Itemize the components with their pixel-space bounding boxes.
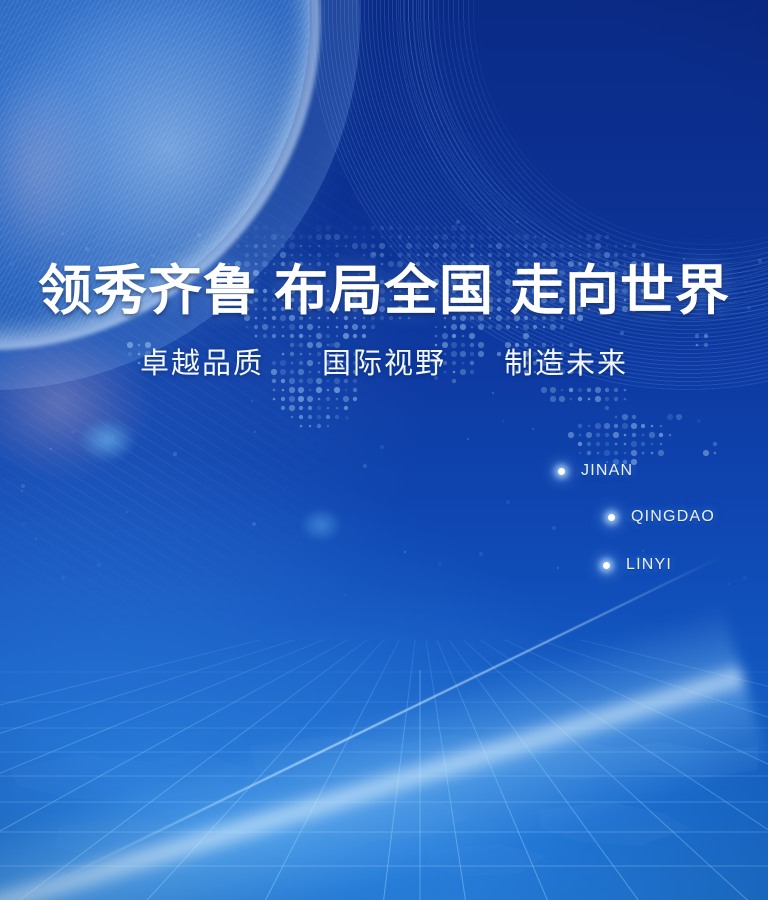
city-dot-marker-icon [558,468,565,475]
headline-part-1: 领秀齐鲁 [38,261,258,321]
city-dot-marker-icon [608,514,615,521]
subline-part-3: 制造未来 [504,348,628,380]
city-label-jinan: JINAN [581,462,633,480]
page-title: 领秀齐鲁布局全国走向世界 [0,258,768,324]
city-marker-qingdao: QINGDAO [608,508,715,526]
city-marker-jinan: JINAN [558,462,633,480]
page-subtitle: 卓越品质国际视野制造未来 [0,346,768,382]
subline-part-2: 国际视野 [322,348,446,380]
city-dot-marker-icon [603,562,610,569]
city-label-linyi: LINYI [626,556,672,574]
headline-block: 领秀齐鲁布局全国走向世界 卓越品质国际视野制造未来 [0,258,768,382]
hero-banner: 领秀齐鲁布局全国走向世界 卓越品质国际视野制造未来 JINAN QINGDAO … [0,0,768,900]
subline-part-1: 卓越品质 [140,348,264,380]
city-label-qingdao: QINGDAO [631,508,715,526]
headline-part-2: 布局全国 [274,261,494,321]
headline-part-3: 走向世界 [510,261,730,321]
city-marker-linyi: LINYI [603,556,672,574]
